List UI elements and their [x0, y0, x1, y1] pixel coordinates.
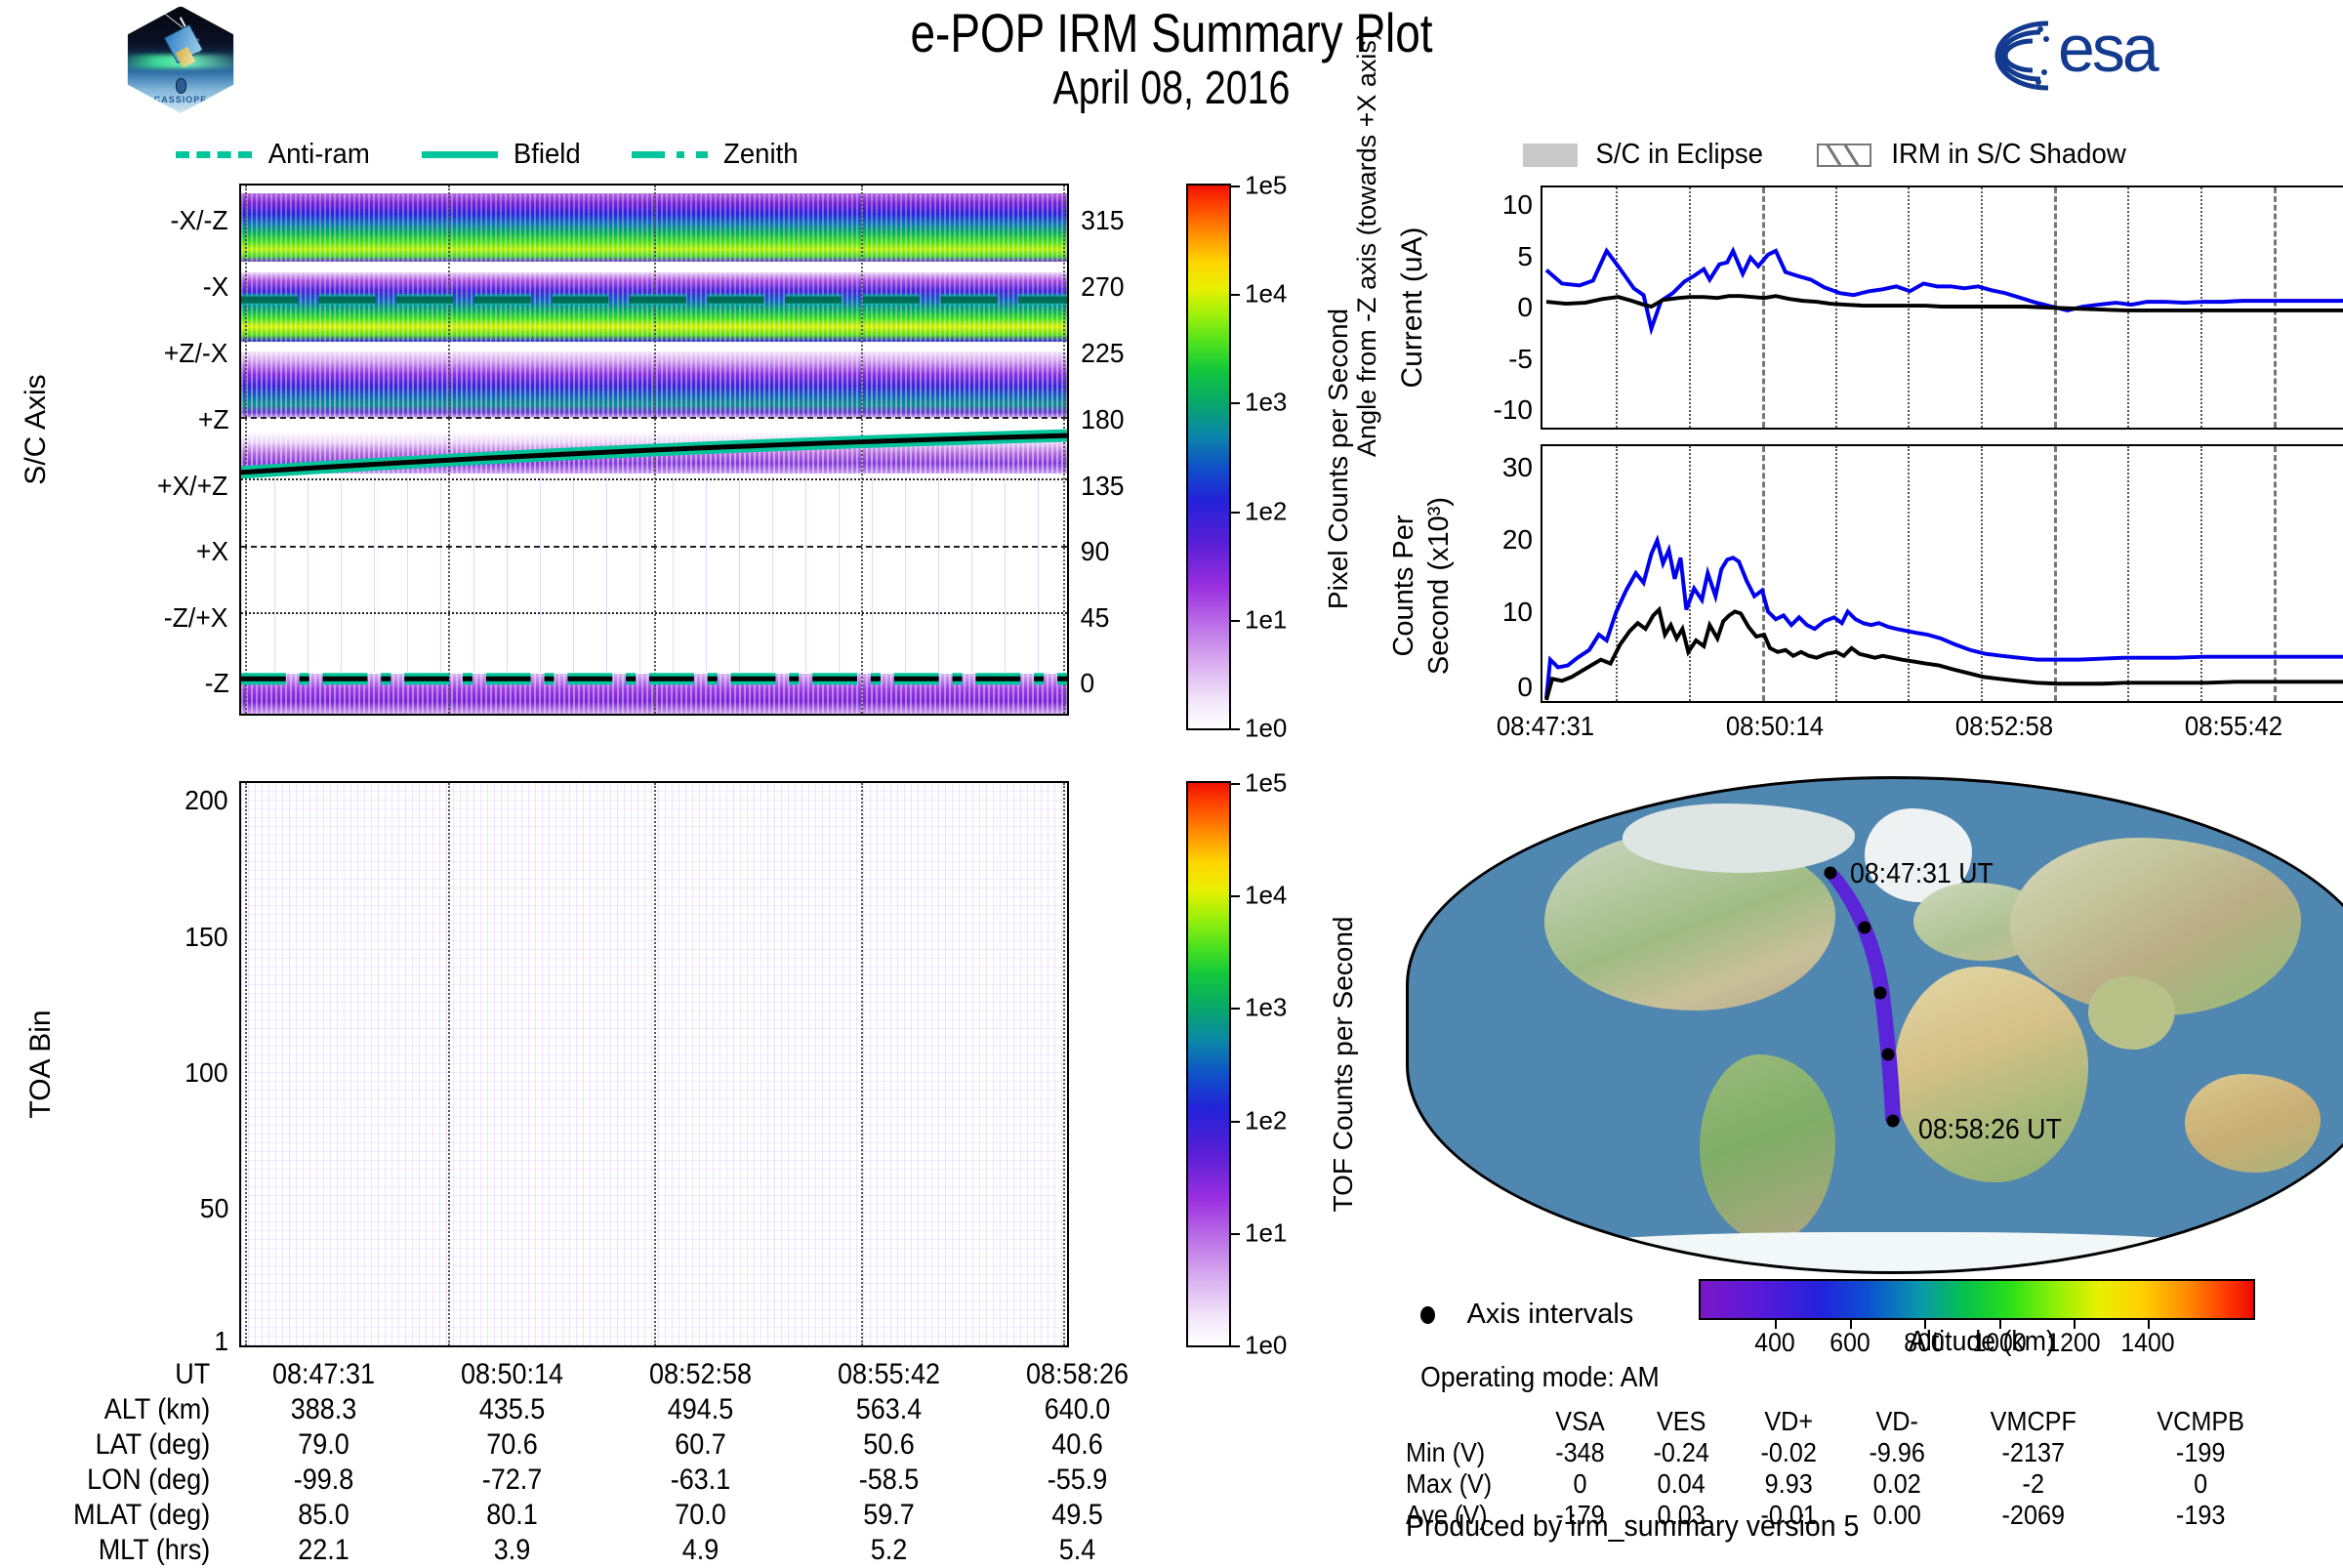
cbar2-tick-1e5: 1e5 — [1245, 768, 1287, 799]
volt-col-vcmpb: VCMPB — [2124, 1406, 2276, 1437]
track-point-1 — [1859, 922, 1871, 934]
axis-ytick-2: +Z/-X — [163, 338, 227, 369]
axis-rtick-5: 90 — [1081, 536, 1110, 567]
sc-axis-spectrogram-panel[interactable] — [239, 184, 1069, 716]
lon-v0: -99.8 — [239, 1463, 409, 1498]
axis-ytick-5: +X — [196, 536, 228, 567]
axis-rtick-2: 225 — [1081, 338, 1124, 369]
cbar1-tick-1e3: 1e3 — [1245, 388, 1287, 418]
max-vmcpf: -2 — [1959, 1468, 2109, 1500]
lon-v2: -63.1 — [616, 1463, 786, 1498]
row-label-ut: UT — [41, 1357, 230, 1392]
panel-toa-y-title: TOA Bin — [24, 903, 63, 1225]
toa-ytick-100: 100 — [185, 1057, 227, 1089]
panel-axis-y-title: S/C Axis — [20, 225, 59, 635]
alt-v0: 388.3 — [239, 1392, 409, 1427]
table-row-mlat: MLAT (deg) 85.0 80.1 70.0 59.7 49.5 — [20, 1498, 1171, 1533]
bfield-line-icon — [422, 151, 498, 158]
legend-item-irm-shadow: IRM in S/C Shadow — [1817, 139, 2132, 171]
cbar2-tick-1e3: 1e3 — [1245, 993, 1287, 1023]
counts-ytitle-line1: Counts Per — [1386, 439, 1421, 732]
min-vcmpb: -199 — [2124, 1437, 2276, 1468]
lat-v2: 60.7 — [616, 1427, 786, 1463]
patch-name-label: CASSIOPE — [128, 95, 233, 104]
title-line-1: e-POP IRM Summary Plot — [691, 4, 1652, 62]
mlt-v2: 4.9 — [616, 1533, 786, 1568]
lat-v0: 79.0 — [239, 1427, 409, 1463]
cbar1-tick-1e4: 1e4 — [1245, 279, 1287, 309]
row-label-alt: ALT (km) — [41, 1392, 230, 1427]
row-label-mlat: MLAT (deg) — [41, 1498, 230, 1533]
mlat-v1: 80.1 — [428, 1498, 597, 1533]
axis-intervals-legend: Axis intervals — [1420, 1299, 1633, 1331]
legend-label-irm-shadow: IRM in S/C Shadow — [1891, 139, 2125, 171]
current-series-plot — [1542, 187, 2343, 428]
ut-v2: 08:52:58 — [616, 1357, 786, 1392]
max-vsa: 0 — [1538, 1468, 1623, 1500]
volt-corner-cell — [1406, 1406, 1520, 1437]
counts-series-plot — [1542, 446, 2343, 701]
ut-v0: 08:47:31 — [239, 1357, 409, 1392]
max-vdplus: 9.93 — [1741, 1468, 1837, 1500]
altitude-colorbar-title: Altitude (km) — [1838, 1326, 2125, 1358]
ut-v3: 08:55:42 — [804, 1357, 974, 1392]
axis-ytick-4: +X/+Z — [157, 471, 227, 502]
time-axis-tick-labels: 08:47:31 08:50:14 08:52:58 08:55:42 08:5… — [1396, 711, 2343, 750]
mlt-v1: 3.9 — [428, 1533, 597, 1568]
cbar1-tick-1e0: 1e0 — [1245, 714, 1287, 744]
max-vcmpb: 0 — [2124, 1468, 2276, 1500]
current-ytick-5: 5 — [1517, 241, 1533, 272]
counts-ytick-10: 10 — [1502, 597, 1533, 628]
mlt-v0: 22.1 — [239, 1533, 409, 1568]
eclipse-shadow-legend: S/C in Eclipse IRM in S/C Shadow — [1523, 139, 2304, 174]
toa-ytick-1: 1 — [215, 1326, 229, 1357]
alt-v4: 640.0 — [993, 1392, 1163, 1427]
counts-ytick-20: 20 — [1502, 524, 1533, 556]
lon-v3: -58.5 — [804, 1463, 974, 1498]
produced-by-text: Produced by irm_summary version 5 — [1406, 1508, 1859, 1544]
table-row-mlt: MLT (hrs) 22.1 3.9 4.9 5.2 5.4 — [20, 1533, 1171, 1568]
row-label-mlt: MLT (hrs) — [41, 1533, 230, 1568]
cbar2-tick-1e2: 1e2 — [1245, 1105, 1287, 1135]
altitude-colorbar: 400 600 800 1000 1200 1400 — [1699, 1279, 2255, 1320]
cbar2-tick-1e0: 1e0 — [1245, 1331, 1287, 1361]
map-start-time-label: 08:47:31 UT — [1850, 858, 1994, 890]
current-ytick-m5: -5 — [1508, 344, 1533, 375]
counts-ytick-30: 30 — [1502, 452, 1533, 483]
zenith-line-icon — [632, 151, 708, 158]
cbar1-tick-1e5: 1e5 — [1245, 171, 1287, 201]
track-point-4 — [1887, 1115, 1900, 1128]
min-vdminus: -9.96 — [1848, 1437, 1945, 1468]
orbit-parameters-table: UT 08:47:31 08:50:14 08:52:58 08:55:42 0… — [20, 1357, 1171, 1568]
counts-panel-y-tick-labels: 30 20 10 0 — [1435, 444, 1533, 703]
sensor-current-panel[interactable] — [1541, 186, 2343, 430]
xtime-3: 08:55:42 — [2185, 711, 2282, 742]
map-end-time-label: 08:58:26 UT — [1918, 1114, 2062, 1146]
cassiope-mission-patch-logo: CASSIOPE — [127, 6, 234, 113]
legend-label-bfield: Bfield — [514, 139, 581, 171]
legend-item-zenith: Zenith — [632, 139, 801, 171]
table-row-lat: LAT (deg) 79.0 70.6 60.7 50.6 40.6 — [20, 1427, 1171, 1463]
axis-rtick-1: 270 — [1081, 271, 1124, 303]
lat-v1: 70.6 — [428, 1427, 597, 1463]
current-ytick-0: 0 — [1517, 292, 1533, 323]
cbar2-tick-1e4: 1e4 — [1245, 881, 1287, 911]
lon-v4: -55.9 — [993, 1463, 1163, 1498]
volt-col-ves: VES — [1632, 1406, 1729, 1437]
shadow-hatch-swatch-icon — [1817, 144, 1871, 167]
volt-col-vdplus: VD+ — [1741, 1406, 1837, 1437]
table-row-ut: UT 08:47:31 08:50:14 08:52:58 08:55:42 0… — [20, 1357, 1171, 1392]
toa-ytick-200: 200 — [185, 785, 227, 816]
xtime-2: 08:52:58 — [1955, 711, 2053, 742]
mlat-v3: 59.7 — [804, 1498, 974, 1533]
min-vmcpf: -2137 — [1959, 1437, 2109, 1468]
alt-tick-1400: 1400 — [2121, 1328, 2175, 1358]
axis-ytick-0: -X/-Z — [170, 205, 227, 236]
xtime-1: 08:50:14 — [1726, 711, 1824, 742]
panel-toa-y-tick-labels: 200 150 100 50 1 — [98, 781, 229, 1347]
ave-vcmpb: -193 — [2124, 1500, 2276, 1531]
current-panel-y-title: Current (uA) — [1396, 146, 1435, 469]
axis-rtick-0: 315 — [1081, 205, 1124, 236]
max-vdminus: 0.02 — [1848, 1468, 1945, 1500]
axis-ytick-7: -Z — [204, 668, 228, 699]
legend-item-bfield: Bfield — [422, 139, 583, 171]
eclipse-swatch-icon — [1523, 144, 1578, 167]
alt-v3: 563.4 — [804, 1392, 974, 1427]
ave-vdminus: 0.00 — [1848, 1500, 1945, 1531]
legend-label-zenith: Zenith — [723, 139, 799, 171]
axis-ytick-1: -X — [203, 271, 229, 303]
ut-v4: 08:58:26 — [993, 1357, 1163, 1392]
axis-ytick-3: +Z — [197, 404, 228, 435]
toa-bin-spectrogram-panel[interactable] — [239, 781, 1069, 1347]
axis-ytick-6: -Z/+X — [163, 602, 227, 634]
current-panel-y-tick-labels: 10 5 0 -5 -10 — [1435, 186, 1533, 430]
lat-v3: 50.6 — [804, 1427, 974, 1463]
operating-mode-text: Operating mode: AM — [1420, 1362, 1660, 1394]
volt-row-label-min: Min (V) — [1406, 1437, 1520, 1468]
max-ves: 0.04 — [1632, 1468, 1729, 1500]
esa-arcs-icon — [1943, 18, 2058, 94]
anti-ram-line-icon — [176, 151, 252, 158]
legend-label-anti-ram: Anti-ram — [268, 139, 370, 171]
volt-col-vmcpf: VMCPF — [1959, 1406, 2109, 1437]
cbar1-tick-1e2: 1e2 — [1245, 496, 1287, 526]
min-vdplus: -0.02 — [1741, 1437, 1837, 1468]
mlt-v4: 5.4 — [993, 1533, 1163, 1568]
panel-axis-y-tick-labels: -X/-Z -X +Z/-X +Z +X/+Z +X -Z/+X -Z — [83, 184, 229, 716]
current-ytick-10: 10 — [1502, 189, 1533, 221]
volt-row-min: Min (V) -348 -0.24 -0.02 -9.96 -2137 -19… — [1406, 1437, 2284, 1468]
mlat-v0: 85.0 — [239, 1498, 409, 1533]
orbit-track-line — [1409, 779, 2343, 1271]
title-line-2: April 08, 2016 — [691, 62, 1652, 115]
ground-track-map[interactable]: 08:47:31 UT 08:58:26 UT — [1406, 776, 2343, 1274]
page-title: e-POP IRM Summary Plot April 08, 2016 — [586, 4, 1757, 115]
axis-intervals-label: Axis intervals — [1466, 1299, 1633, 1330]
volt-col-vdminus: VD- — [1848, 1406, 1945, 1437]
legend-label-sc-eclipse: S/C in Eclipse — [1596, 139, 1763, 171]
mlat-v4: 49.5 — [993, 1498, 1163, 1533]
ut-v1: 08:50:14 — [428, 1357, 597, 1392]
tof-counts-colorbar: 1e5 1e4 1e3 1e2 1e1 1e0 — [1186, 781, 1231, 1347]
table-row-lon: LON (deg) -99.8 -72.7 -63.1 -58.5 -55.9 — [20, 1463, 1171, 1498]
esa-logo: esa — [1943, 12, 2304, 98]
volt-col-vsa: VSA — [1538, 1406, 1623, 1437]
axis-rtick-3: 180 — [1081, 404, 1124, 435]
counts-ytick-0: 0 — [1517, 672, 1533, 703]
xtime-0: 08:47:31 — [1497, 711, 1594, 742]
legend-item-anti-ram: Anti-ram — [176, 139, 373, 171]
volt-row-max: Max (V) 0 0.04 9.93 0.02 -2 0 — [1406, 1468, 2284, 1500]
axis-interval-dot-icon — [1420, 1306, 1435, 1324]
cbar2-tick-1e1: 1e1 — [1245, 1217, 1287, 1248]
tof-counts-colorbar-title: TOF Counts per Second — [1328, 820, 1367, 1308]
axis-rtick-4: 135 — [1081, 471, 1124, 502]
cbar1-tick-1e1: 1e1 — [1245, 604, 1287, 635]
mlat-v2: 70.0 — [616, 1498, 786, 1533]
min-ves: -0.24 — [1632, 1437, 1729, 1468]
alt-tick-400: 400 — [1755, 1328, 1795, 1358]
row-label-lon: LON (deg) — [41, 1463, 230, 1498]
toa-ytick-50: 50 — [200, 1193, 229, 1224]
counts-per-second-panel[interactable] — [1541, 444, 2343, 703]
min-vsa: -348 — [1538, 1437, 1623, 1468]
axis-overlay-legend: Anti-ram Bfield Zenith — [176, 139, 879, 172]
pixel-counts-colorbar-title: Pixel Counts per Second — [1323, 225, 1362, 693]
mlt-v3: 5.2 — [804, 1533, 974, 1568]
lon-v1: -72.7 — [428, 1463, 597, 1498]
track-point-0 — [1825, 866, 1837, 879]
alt-v1: 435.5 — [428, 1392, 597, 1427]
track-point-2 — [1874, 987, 1887, 1000]
axis-rtick-6: 45 — [1081, 602, 1110, 634]
ave-vmcpf: -2069 — [1959, 1500, 2109, 1531]
current-ytick-m10: -10 — [1494, 394, 1533, 426]
pixel-counts-colorbar: 1e5 1e4 1e3 1e2 1e1 1e0 — [1186, 184, 1231, 730]
row-label-lat: LAT (deg) — [41, 1427, 230, 1463]
track-point-3 — [1882, 1049, 1895, 1061]
axis-overlay-curves — [241, 186, 1067, 714]
toa-ytick-150: 150 — [185, 922, 227, 953]
alt-v2: 494.5 — [616, 1392, 786, 1427]
volt-header-row: VSA VES VD+ VD- VMCPF VCMPB — [1406, 1406, 2284, 1437]
table-row-alt: ALT (km) 388.3 435.5 494.5 563.4 640.0 — [20, 1392, 1171, 1427]
axis-rtick-7: 0 — [1080, 668, 1094, 699]
esa-wordmark: esa — [2058, 14, 2157, 84]
toa-main-band — [241, 1345, 1067, 1347]
legend-item-sc-eclipse: S/C in Eclipse — [1523, 139, 1768, 171]
lat-v4: 40.6 — [993, 1427, 1163, 1463]
volt-row-label-max: Max (V) — [1406, 1468, 1520, 1500]
